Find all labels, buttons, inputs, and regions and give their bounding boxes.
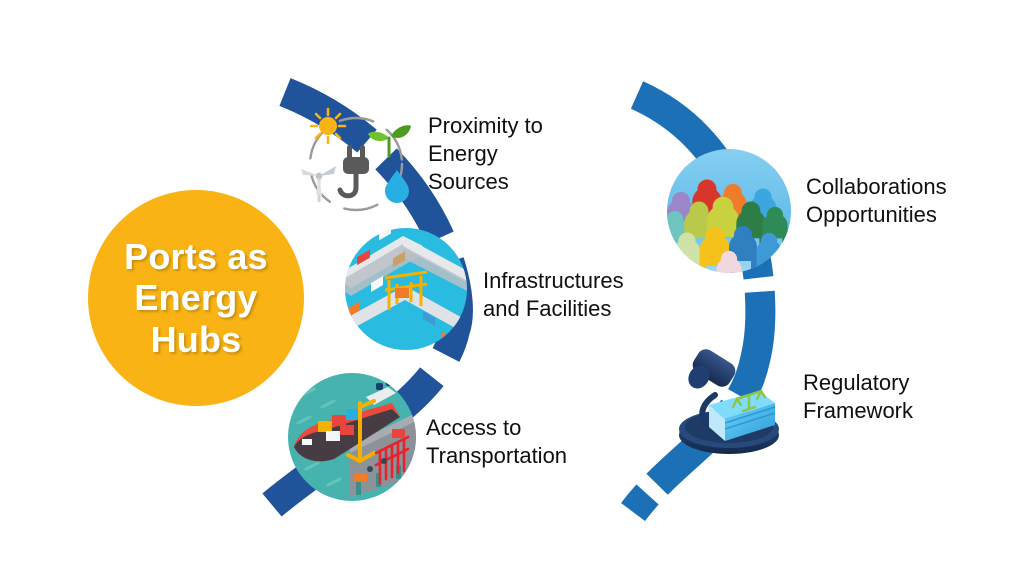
label-infrastructures-and-facilities: Infrastructures and Facilities	[483, 267, 624, 323]
gavel-law-book-icon	[663, 347, 795, 459]
wind-turbine-icon	[301, 166, 336, 202]
water-drop-icon	[385, 170, 409, 203]
label-collaborations-opportunities: Collaborations Opportunities	[806, 173, 947, 229]
people-figures	[667, 180, 788, 273]
collaboration-people-icon	[667, 149, 791, 273]
container-ship-icon	[288, 373, 416, 501]
yard-container	[354, 473, 367, 482]
label-proximity-to-energy-sources: Proximity to Energy Sources	[428, 112, 543, 196]
central-hub-circle: Ports as Energy Hubs	[88, 190, 304, 406]
label-access-to-transportation: Access to Transportation	[426, 414, 567, 470]
leaf-sprout-icon	[368, 125, 411, 156]
electric-plug-icon	[340, 145, 369, 196]
gavel-head	[684, 347, 739, 392]
yard-container	[392, 429, 405, 438]
renewable-energy-icon	[296, 104, 416, 222]
port-logistics-icon	[345, 228, 467, 350]
sun-icon	[311, 109, 345, 143]
label-regulatory-framework: Regulatory Framework	[803, 369, 913, 425]
infographic-slide: Ports as Energy Hubs	[0, 0, 1024, 567]
page-title: Ports as Energy Hubs	[88, 236, 304, 359]
crane-container	[395, 288, 409, 298]
